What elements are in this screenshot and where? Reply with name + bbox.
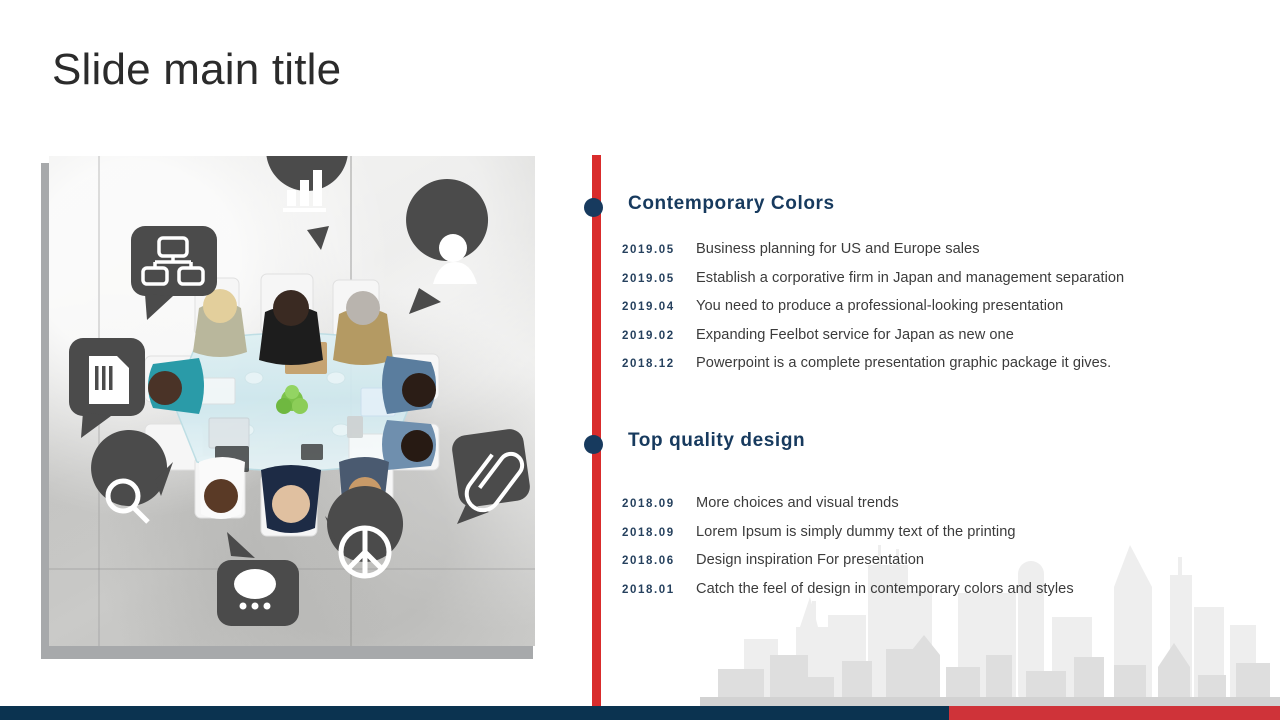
page-title: Slide main title — [52, 46, 341, 94]
timeline-list: 2019.05 Business planning for US and Eur… — [592, 241, 1280, 384]
item-date: 2019.05 — [592, 244, 696, 256]
item-date: 2018.01 — [592, 584, 696, 596]
section-top-quality-design: Top quality design 2018.09 More choices … — [592, 430, 1280, 609]
list-item[interactable]: 2019.04 You need to produce a profession… — [592, 298, 1280, 327]
list-item[interactable]: 2018.01 Catch the feel of design in cont… — [592, 581, 1280, 610]
list-item[interactable]: 2018.09 More choices and visual trends — [592, 495, 1280, 524]
footer-bar-red — [949, 706, 1280, 720]
item-text: Design inspiration For presentation — [696, 552, 924, 568]
item-date: 2018.09 — [592, 527, 696, 539]
list-item[interactable]: 2018.06 Design inspiration For presentat… — [592, 552, 1280, 581]
list-item[interactable]: 2018.12 Powerpoint is a complete present… — [592, 355, 1280, 384]
footer-bar-navy — [0, 706, 949, 720]
bullet-dot-icon — [584, 198, 603, 217]
bullet-dot-icon — [584, 435, 603, 454]
item-text: Powerpoint is a complete presentation gr… — [696, 355, 1111, 371]
list-item[interactable]: 2019.05 Business planning for US and Eur… — [592, 241, 1280, 270]
section-heading: Top quality design — [628, 430, 805, 452]
timeline-list: 2018.09 More choices and visual trends 2… — [592, 495, 1280, 609]
list-item[interactable]: 2019.05 Establish a corporative firm in … — [592, 270, 1280, 299]
section-header: Top quality design — [592, 430, 1280, 460]
item-date: 2019.04 — [592, 301, 696, 313]
business-meeting-photo — [49, 156, 535, 646]
section-heading: Contemporary Colors — [628, 193, 835, 215]
item-date: 2018.09 — [592, 498, 696, 510]
item-date: 2019.02 — [592, 330, 696, 342]
section-contemporary-colors: Contemporary Colors 2019.05 Business pla… — [592, 193, 1280, 384]
list-item[interactable]: 2019.02 Expanding Feelbot service for Ja… — [592, 327, 1280, 356]
item-text: Expanding Feelbot service for Japan as n… — [696, 327, 1014, 343]
slide-canvas: Slide main title — [0, 0, 1280, 720]
item-text: More choices and visual trends — [696, 495, 899, 511]
item-date: 2019.05 — [592, 273, 696, 285]
list-item[interactable]: 2018.09 Lorem Ipsum is simply dummy text… — [592, 524, 1280, 553]
item-text: Establish a corporative firm in Japan an… — [696, 270, 1124, 286]
content-column: Contemporary Colors 2019.05 Business pla… — [592, 155, 1280, 706]
item-date: 2018.12 — [592, 358, 696, 370]
item-text: Catch the feel of design in contemporary… — [696, 581, 1074, 597]
item-text: You need to produce a professional-looki… — [696, 298, 1063, 314]
section-header: Contemporary Colors — [592, 193, 1280, 223]
item-text: Business planning for US and Europe sale… — [696, 241, 980, 257]
item-text: Lorem Ipsum is simply dummy text of the … — [696, 524, 1016, 540]
item-date: 2018.06 — [592, 555, 696, 567]
